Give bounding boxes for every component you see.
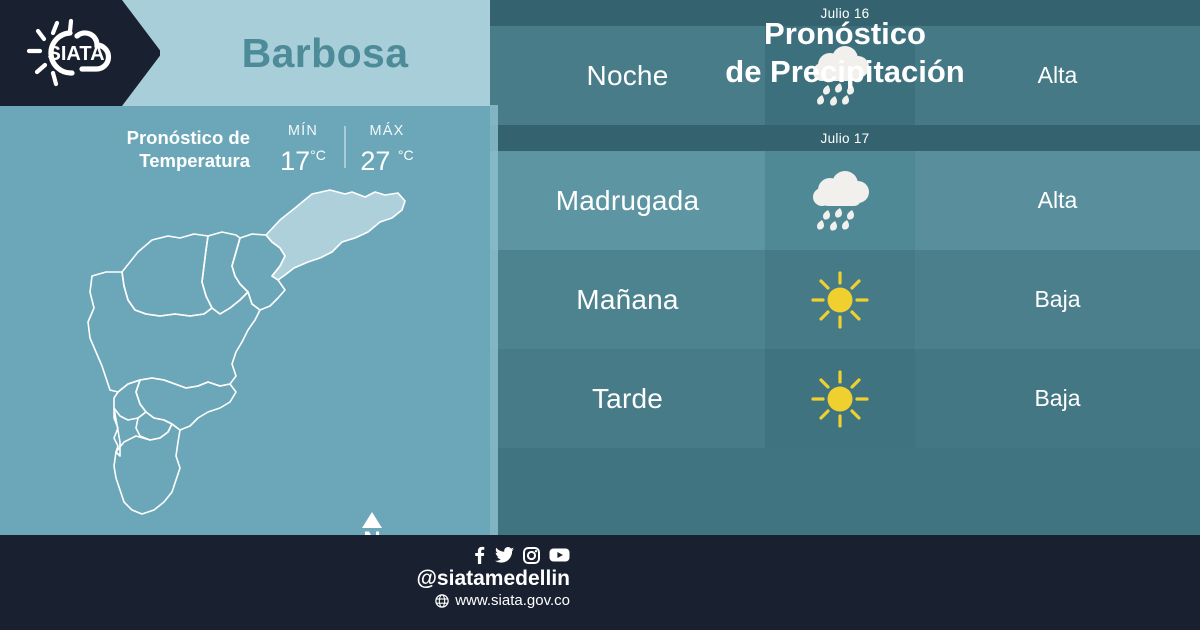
- temperature-min-value: 17°C: [264, 140, 342, 176]
- social-handle[interactable]: @siatamedellin: [300, 566, 570, 591]
- forecast-period-manana: Mañana: [490, 250, 765, 349]
- social-block: @siatamedellin www.siata.gov.co: [300, 545, 590, 621]
- temperature-min-label: MÍN: [264, 122, 342, 140]
- sun-icon-svg: [809, 368, 871, 430]
- map-region-medellin[interactable]: [88, 272, 260, 392]
- temperature-divider: [344, 126, 346, 168]
- precipitation-title-line1: Pronóstico: [764, 15, 926, 53]
- left-panel: SIATA Barbosa Pronóstico de Temperatura …: [0, 0, 490, 535]
- left-header: SIATA Barbosa: [0, 0, 490, 106]
- website-url: www.siata.gov.co: [455, 591, 570, 610]
- forecast-row-tarde: Tarde Baja: [490, 349, 1200, 448]
- temperature-max-value: 27 °C: [348, 140, 426, 176]
- sun-icon-svg: [809, 269, 871, 331]
- globe-icon: [435, 594, 449, 608]
- temperature-title-line2: Temperatura: [60, 149, 250, 172]
- sun-icon: [765, 349, 915, 448]
- map-region-sabaneta[interactable]: [136, 412, 172, 440]
- website-line[interactable]: www.siata.gov.co: [300, 591, 570, 610]
- precipitation-title-line2: de Precipitación: [725, 53, 964, 91]
- forecast-row-manana: Mañana Baja: [490, 250, 1200, 349]
- forecast-probability-tarde: Baja: [915, 349, 1200, 448]
- facebook-icon[interactable]: [473, 546, 486, 564]
- forecast-period-madrugada: Madrugada: [490, 151, 765, 250]
- temperature-max-label: MÁX: [348, 122, 426, 140]
- youtube-icon[interactable]: [549, 547, 570, 563]
- rain-cloud-icon-svg: [806, 170, 874, 232]
- map-svg: [80, 180, 440, 535]
- sun-icon: [765, 250, 915, 349]
- map-region-envigado[interactable]: [136, 378, 236, 430]
- forecast-probability-madrugada: Alta: [915, 151, 1200, 250]
- temperature-title-line1: Pronóstico de: [60, 126, 250, 149]
- instagram-icon[interactable]: [523, 547, 540, 564]
- forecast-row-madrugada: Madrugada: [490, 151, 1200, 250]
- panel-edge-strip: [490, 105, 498, 535]
- sun-cloud-icon: SIATA: [14, 16, 134, 90]
- footer: @siatamedellin www.siata.gov.co Con el a…: [0, 535, 1200, 630]
- weather-forecast-poster: SIATA Barbosa Pronóstico de Temperatura …: [0, 0, 1200, 630]
- twitter-icon[interactable]: [495, 546, 514, 564]
- temperature-title: Pronóstico de Temperatura: [60, 122, 250, 172]
- temperature-forecast: Pronóstico de Temperatura MÍN 17°C MÁX 2…: [60, 122, 440, 184]
- map-region-bello[interactable]: [122, 234, 212, 316]
- date-bar-julio-17: Julio 17: [490, 125, 1200, 151]
- temperature-max-number: 27: [360, 146, 390, 176]
- map-region-itagui[interactable]: [114, 380, 146, 420]
- siata-logo-text: SIATA: [47, 43, 104, 65]
- precipitation-title: Pronóstico de Precipitación: [490, 0, 1200, 105]
- map-region-caldas[interactable]: [114, 424, 180, 514]
- forecast-period-tarde: Tarde: [490, 349, 765, 448]
- temperature-max-unit: °C: [398, 147, 414, 163]
- temperature-min-unit: °C: [310, 147, 326, 163]
- temperature-max: MÁX 27 °C: [348, 122, 426, 176]
- city-title: Barbosa: [160, 0, 490, 106]
- rain-cloud-icon: [765, 151, 915, 250]
- temperature-min-number: 17: [280, 146, 310, 176]
- right-panel: Pronóstico de Precipitación Julio 16 Noc…: [490, 0, 1200, 535]
- forecast-probability-manana: Baja: [915, 250, 1200, 349]
- temperature-min: MÍN 17°C: [264, 122, 342, 176]
- social-icons: [300, 545, 570, 565]
- map-region-barbosa[interactable]: [266, 190, 405, 280]
- siata-logo-banner: SIATA: [0, 0, 160, 106]
- temperature-values: MÍN 17°C MÁX 27 °C: [264, 122, 426, 176]
- north-arrow: N: [357, 511, 387, 535]
- aburra-valley-map: N: [80, 180, 440, 535]
